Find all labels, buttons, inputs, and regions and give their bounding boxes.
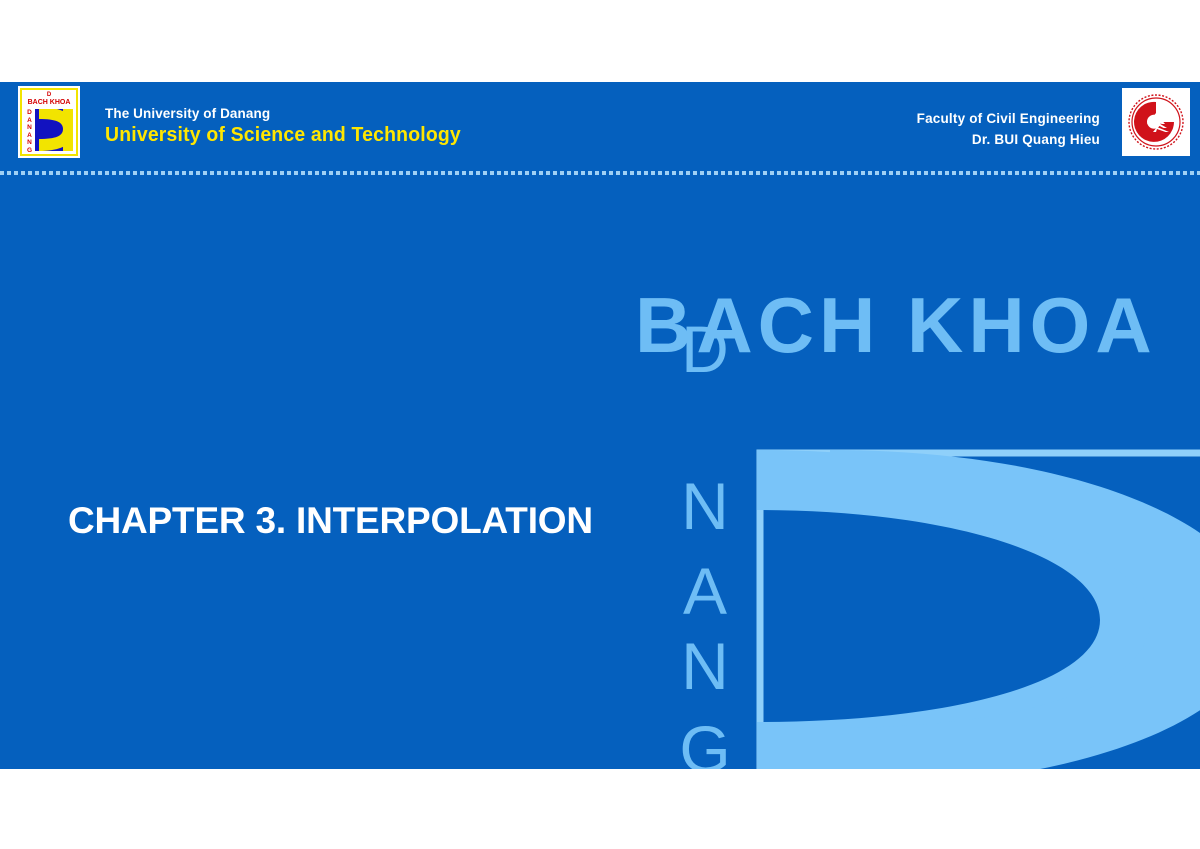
slide-canvas: D A N A N G BACH KHOA D BACH KHOA DANANG	[0, 82, 1200, 769]
watermark-letter-a2: A	[683, 554, 727, 628]
faculty-name: Faculty of Civil Engineering	[917, 108, 1100, 129]
watermark-letter-n2: N	[681, 629, 729, 703]
page-title: CHAPTER 3. INTERPOLATION	[68, 500, 593, 542]
watermark-crescent-d	[757, 450, 1200, 769]
logo-bach-khoa-text: BACH KHOA	[28, 99, 71, 107]
watermark-svg: D A N A N G BACH KHOA	[0, 82, 1200, 769]
university-logo-frame: D BACH KHOA DANANG	[20, 88, 78, 156]
university-name-block: The University of Danang University of S…	[105, 106, 472, 147]
watermark-letter-g: G	[679, 712, 730, 769]
university-logo: D BACH KHOA DANANG	[18, 86, 80, 158]
watermark-letter-n1: N	[681, 469, 729, 543]
logo-crescent-icon	[37, 109, 73, 151]
presenter-name: Dr. BUI Quang Hieu	[917, 129, 1100, 150]
logo-danang-vertical-text: DANANG	[25, 109, 34, 154]
faculty-block: Faculty of Civil Engineering Dr. BUI Qua…	[917, 108, 1100, 150]
watermark-vertical-danang: D A N A N G	[679, 312, 730, 769]
university-parent-name: The University of Danang	[105, 106, 472, 122]
bach-khoa-watermark: D A N A N G BACH KHOA	[0, 82, 1200, 769]
university-school-name: University of Science and Technology	[105, 123, 461, 147]
faculty-logo	[1122, 88, 1190, 156]
header-divider	[0, 171, 1200, 175]
logo-top-letter: D	[47, 92, 51, 98]
watermark-letter-d: D	[681, 312, 729, 386]
watermark-frame	[760, 453, 1200, 769]
watermark-bach-khoa-text: BACH KHOA	[635, 281, 1157, 369]
logo-blue-square	[35, 109, 73, 151]
slide-header: D BACH KHOA DANANG The University of Dan…	[0, 82, 1200, 178]
civil-engineering-seal-icon	[1127, 93, 1185, 151]
